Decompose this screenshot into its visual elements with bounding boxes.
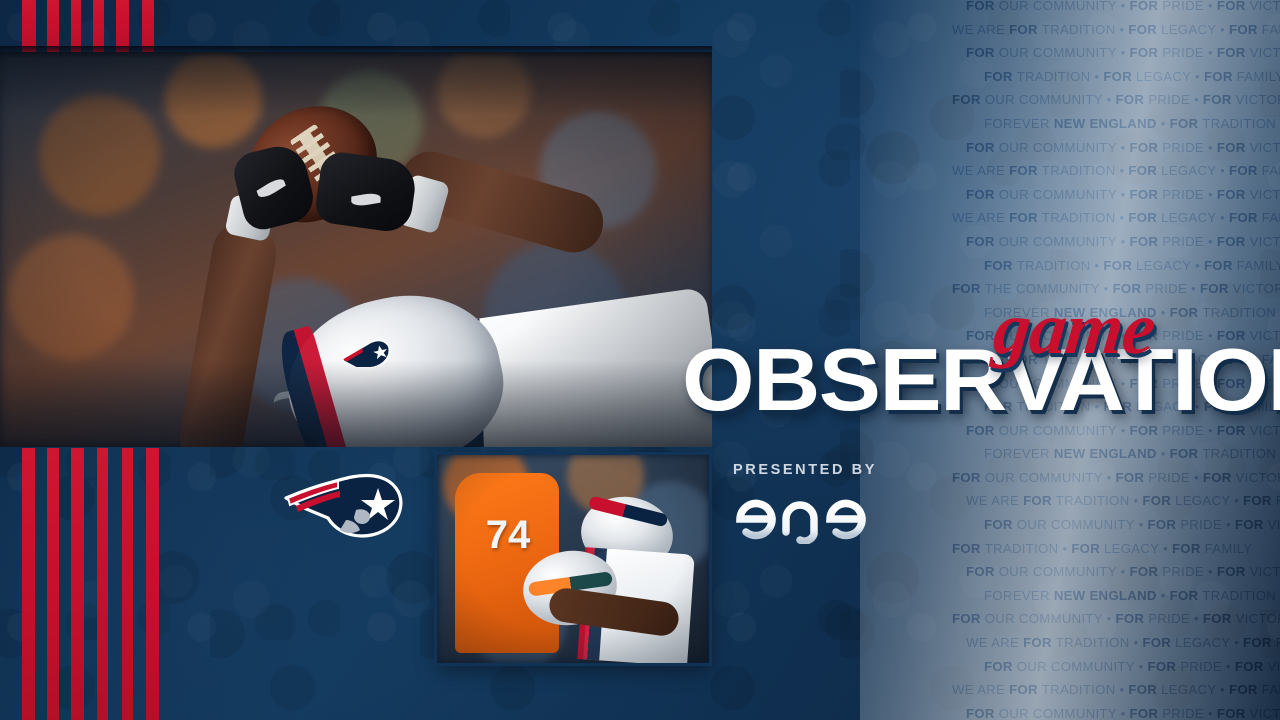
stripe-red — [47, 448, 59, 720]
stripe-gap — [159, 448, 173, 720]
watermark-line: WE ARE FOR TRADITION • FOR LEGACY • FOR … — [950, 489, 1280, 513]
watermark-line: FOR TRADITION • FOR LEGACY • FOR FAMILY — [950, 254, 1280, 278]
stripe-gap — [0, 448, 22, 720]
title-observations: OBSERVATIONS — [682, 340, 1280, 421]
watermark-line: FOREVER NEW ENGLAND • FOR TRADITION — [950, 442, 1280, 466]
hero-top-shadow — [0, 46, 712, 58]
hero-photo: DOUGLAS — [0, 52, 712, 447]
stripe-gap — [133, 448, 146, 720]
watermark-line: FOR OUR COMMUNITY • FOR PRIDE • FOR VICT… — [950, 88, 1280, 112]
watermark-line: FOR OUR COMMUNITY • FOR PRIDE • FOR VICT… — [950, 230, 1280, 254]
watermark-line: FOREVER NEW ENGLAND • FOR TRADITION — [950, 112, 1280, 136]
stripe-red — [146, 448, 159, 720]
watermark-line: WE ARE FOR TRADITION • FOR LEGACY • FOR … — [950, 678, 1280, 702]
watermark-line: FOR OUR COMMUNITY • FOR PRIDE • FOR VICT… — [950, 513, 1280, 537]
watermark-line: FOR OUR COMMUNITY • FOR PRIDE • FOR VICT… — [950, 607, 1280, 631]
stripes-bottom — [0, 448, 173, 720]
watermark-line: FOR TRADITION • FOR LEGACY • FOR FAMILY — [950, 65, 1280, 89]
inset-vignette — [437, 455, 709, 663]
inset-photo: 74 — [437, 455, 709, 663]
title-game-script: game — [990, 292, 1158, 366]
watermark-line: FOR OUR COMMUNITY • FOR PRIDE • FOR VICT… — [950, 655, 1280, 679]
watermark-line: FOR OUR COMMUNITY • FOR PRIDE • FOR VICT… — [950, 136, 1280, 160]
watermark-line: FOR OUR COMMUNITY • FOR PRIDE • FOR VICT… — [950, 41, 1280, 65]
stripe-gap — [108, 448, 122, 720]
enel-logo — [726, 482, 922, 544]
watermark-line: FOR OUR COMMUNITY • FOR PRIDE • FOR VICT… — [950, 560, 1280, 584]
watermark-line: WE ARE FOR TRADITION • FOR LEGACY • FOR … — [950, 206, 1280, 230]
watermark-line: FOREVER NEW ENGLAND • FOR TRADITION — [950, 584, 1280, 608]
watermark-line: FOR OUR COMMUNITY • FOR PRIDE • FOR VICT… — [950, 466, 1280, 490]
title-lockup: OBSERVATIONS game — [676, 292, 1228, 440]
presented-by-label: PRESENTED BY — [733, 462, 877, 478]
stripe-gap — [59, 448, 71, 720]
watermark-line: FOR OUR COMMUNITY • FOR PRIDE • FOR VICT… — [950, 0, 1280, 18]
watermark-line: WE ARE FOR TRADITION • FOR LEGACY • FOR … — [950, 159, 1280, 183]
watermark-line: WE ARE FOR TRADITION • FOR LEGACY • FOR … — [950, 631, 1280, 655]
stripe-gap — [35, 448, 47, 720]
watermark-line: FOR OUR COMMUNITY • FOR PRIDE • FOR VICT… — [950, 702, 1280, 720]
hero-vignette — [0, 52, 712, 447]
watermark-line: FOR TRADITION • FOR LEGACY • FOR FAMILY — [950, 537, 1280, 561]
patriots-flying-elvis-logo — [282, 462, 408, 546]
stripe-gap — [84, 448, 97, 720]
watermark-line: WE ARE FOR TRADITION • FOR LEGACY • FOR … — [950, 18, 1280, 42]
stripe-red — [22, 448, 35, 720]
stripe-red — [122, 448, 133, 720]
stripe-red — [97, 448, 108, 720]
graphic-canvas: FOR OUR COMMUNITY • FOR PRIDE • FOR VICT… — [0, 0, 1280, 720]
watermark-line: FOR OUR COMMUNITY • FOR PRIDE • FOR VICT… — [950, 183, 1280, 207]
stripe-red — [71, 448, 84, 720]
